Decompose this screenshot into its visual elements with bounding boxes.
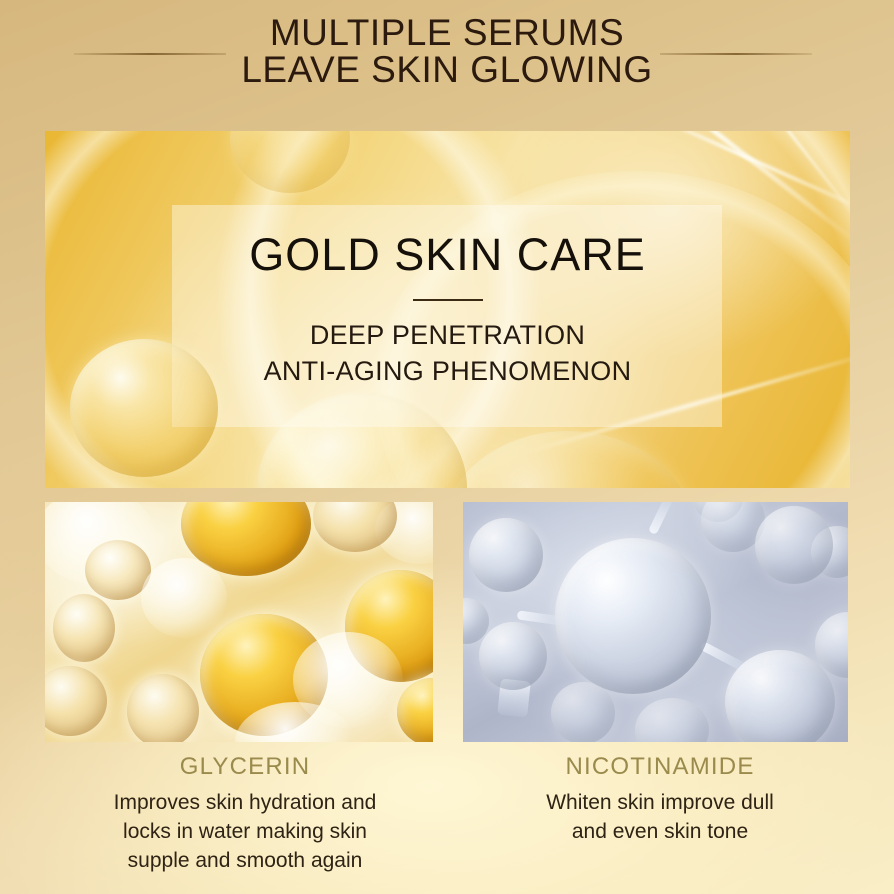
molecule-sphere-icon (755, 506, 833, 584)
serum-bubble-icon (70, 339, 218, 477)
hero-text-backdrop (172, 205, 722, 427)
ingredient-name: GLYCERIN (40, 752, 450, 782)
ingredient-caption-glycerin: GLYCERIN Improves skin hydration and loc… (40, 752, 450, 875)
ingredient-name: NICOTINAMIDE (455, 752, 865, 782)
page-title: MULTIPLE SERUMS LEAVE SKIN GLOWING (0, 14, 894, 88)
foam-highlight-icon (141, 558, 227, 638)
ingredient-caption-nicotinamide: NICOTINAMIDE Whiten skin improve dull an… (455, 752, 865, 846)
promo-page: MULTIPLE SERUMS LEAVE SKIN GLOWING GOLD … (0, 0, 894, 894)
ingredient-description: Whiten skin improve dull and even skin t… (455, 788, 865, 846)
ingredient-image-nicotinamide (463, 502, 848, 742)
serum-bubble-icon (443, 431, 693, 488)
molecule-sphere-icon (469, 518, 543, 592)
header-section: MULTIPLE SERUMS LEAVE SKIN GLOWING (0, 0, 894, 118)
molecule-sphere-icon (555, 538, 711, 694)
hero-banner-image (45, 131, 850, 488)
molecule-sphere-icon (479, 622, 547, 690)
oil-bubble-icon (53, 594, 115, 662)
ingredient-image-glycerin (45, 502, 433, 742)
molecule-sphere-icon (551, 682, 615, 742)
ingredient-description: Improves skin hydration and locks in wat… (40, 788, 450, 875)
oil-bubble-icon (127, 674, 199, 742)
serum-bubble-icon (230, 131, 350, 193)
